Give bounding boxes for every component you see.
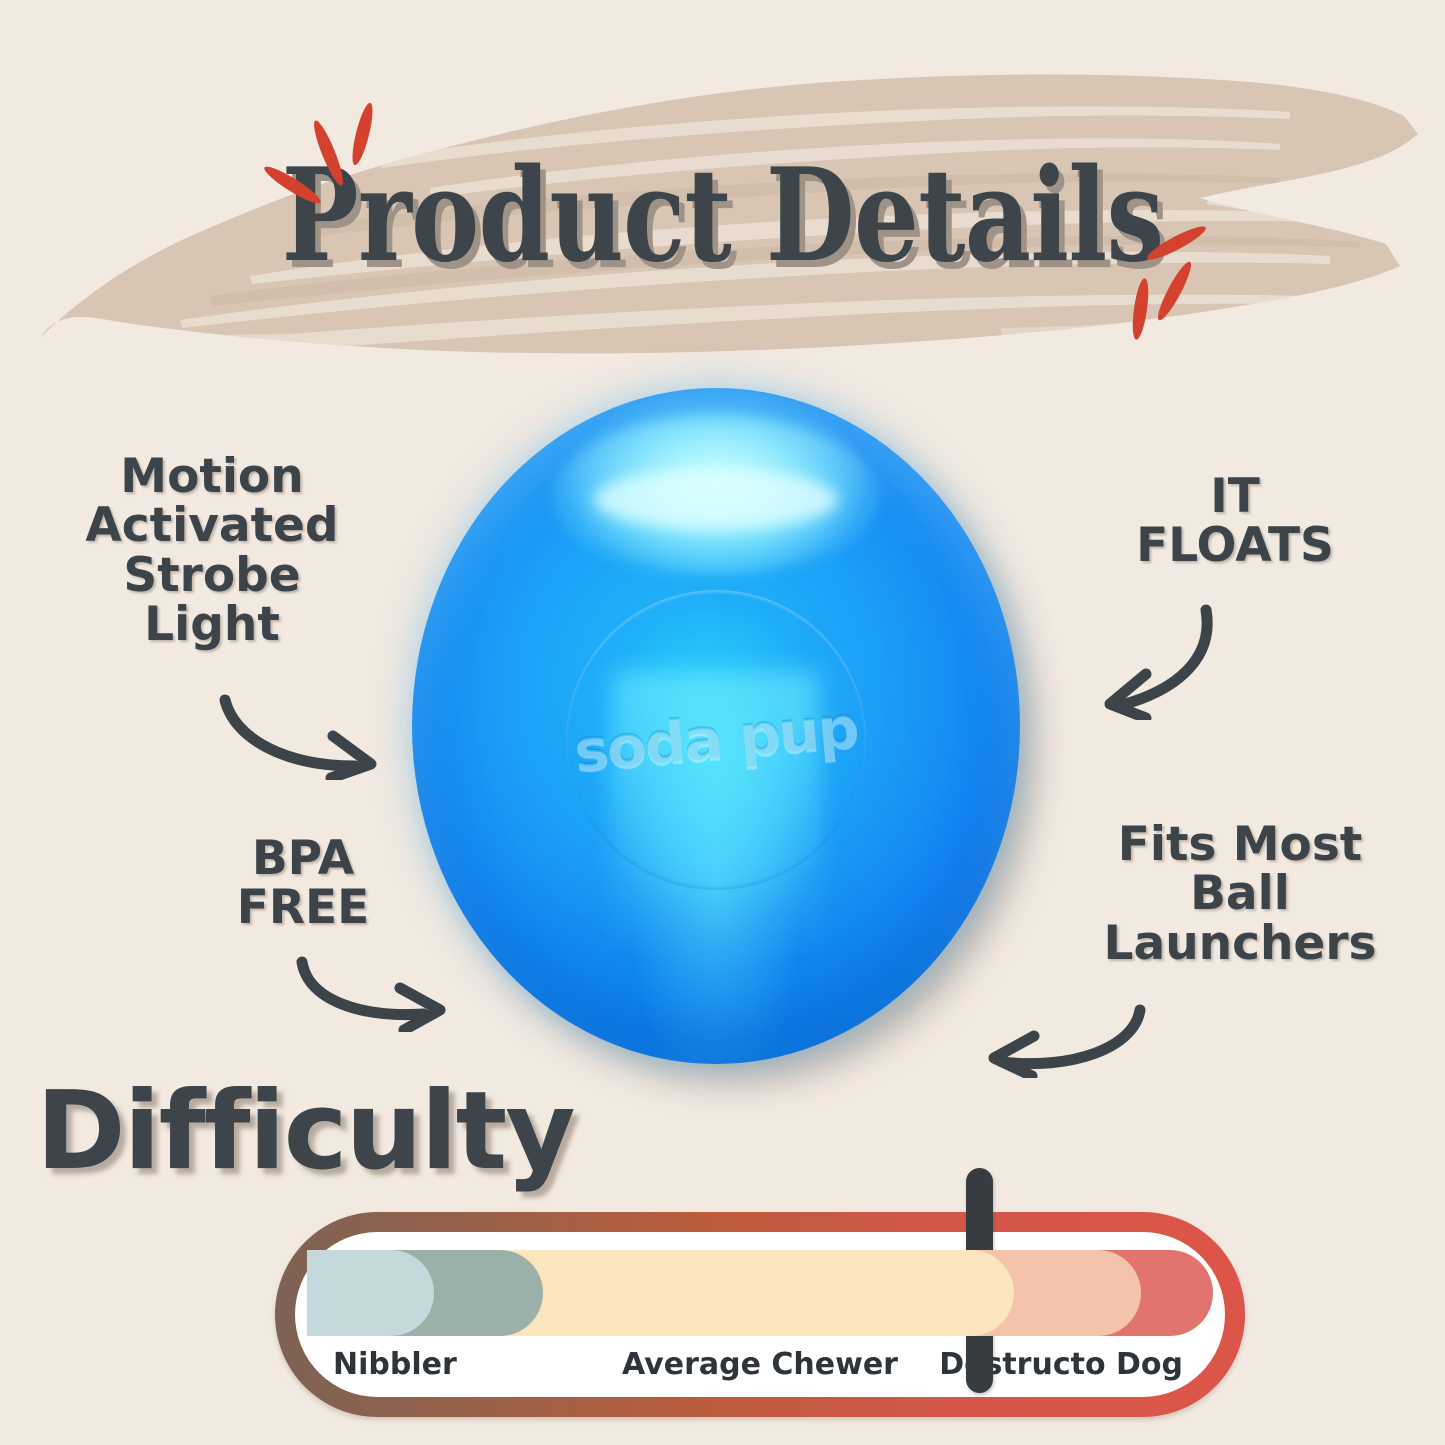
difficulty-segment — [307, 1250, 434, 1336]
difficulty-label-average-chewer: Average Chewer — [622, 1347, 898, 1382]
infographic-canvas: Product Details soda pup Motion Activate… — [0, 0, 1445, 1445]
difficulty-label-nibbler: Nibbler — [333, 1347, 457, 1382]
ball-specular-streak — [594, 469, 837, 530]
feature-label-floats: IT FLOATS — [1070, 472, 1400, 571]
difficulty-heading: Difficulty — [36, 1078, 574, 1186]
ball-embossed-logo: soda pup — [566, 590, 866, 890]
spark-mark-icon — [1144, 222, 1208, 264]
curved-arrow-right-icon — [288, 952, 468, 1032]
curved-arrow-right-icon — [205, 688, 405, 780]
spark-group-left — [300, 100, 430, 230]
ball-bottom-shading — [412, 861, 1020, 1064]
product-image-wrapper: soda pup — [412, 388, 1036, 1088]
feature-label-strobe: Motion Activated Strobe Light — [32, 452, 392, 649]
spark-group-right — [1140, 200, 1280, 340]
spark-mark-icon — [348, 101, 376, 166]
difficulty-label-row: Nibbler Average Chewer Destructo Dog — [295, 1347, 1225, 1389]
header-band: Product Details — [0, 20, 1445, 370]
product-ball-image: soda pup — [412, 388, 1020, 1064]
difficulty-meter[interactable]: Nibbler Average Chewer Destructo Dog — [275, 1212, 1245, 1417]
feature-label-fits: Fits Most Ball Launchers — [1045, 820, 1435, 968]
ball-logo-text: soda pup — [572, 701, 859, 779]
spark-mark-icon — [309, 118, 347, 188]
feature-label-bpa: BPA FREE — [188, 834, 418, 933]
difficulty-segment-track — [307, 1250, 1213, 1336]
spark-mark-icon — [1153, 259, 1195, 323]
curved-arrow-left-down-icon — [1088, 600, 1248, 720]
difficulty-meter-inner: Nibbler Average Chewer Destructo Dog — [295, 1232, 1225, 1397]
curved-arrow-left-icon — [968, 1000, 1158, 1078]
